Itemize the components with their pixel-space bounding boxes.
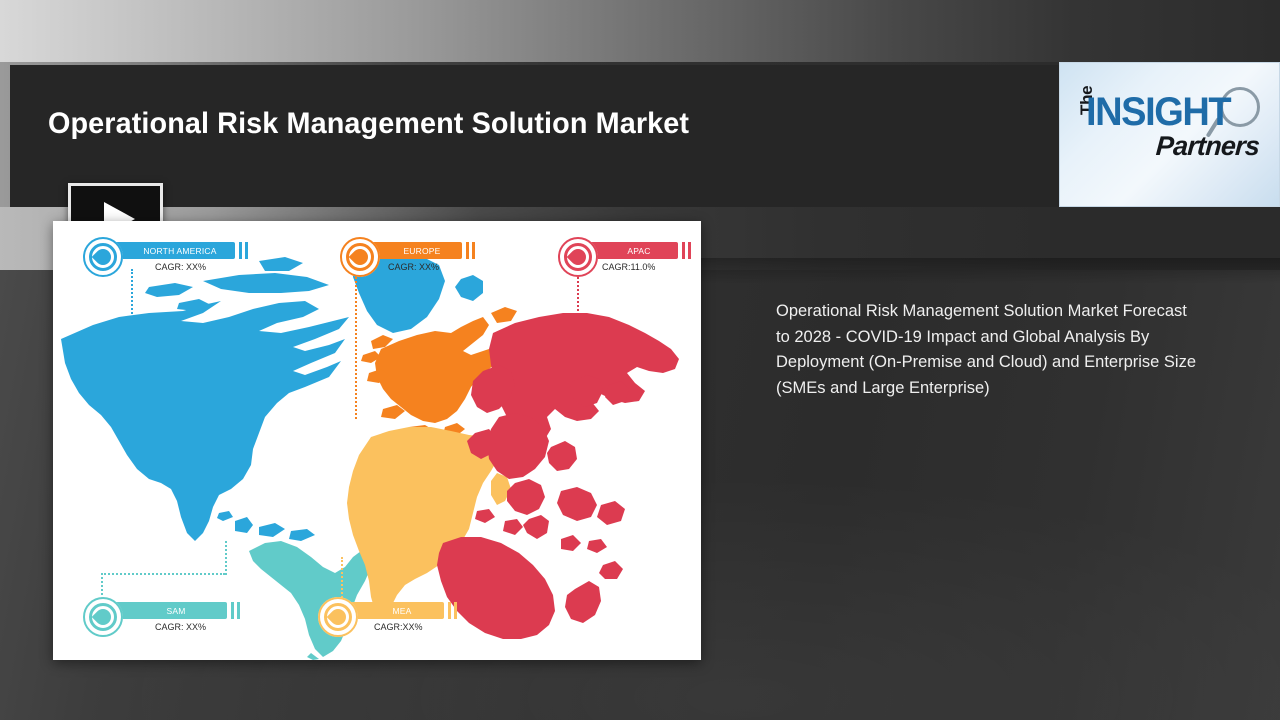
region-tick-north-america-2 xyxy=(245,242,248,259)
region-label-bar-north-america: NORTH AMERICA xyxy=(105,242,235,259)
region-tick-north-america-1 xyxy=(239,242,242,259)
connector-north-america xyxy=(131,269,133,421)
region-cagr-apac: CAGR:11.0% xyxy=(602,262,655,272)
connector-sam-drop xyxy=(225,541,227,575)
connector-apac xyxy=(577,269,579,327)
region-pin-icon-north-america xyxy=(83,237,123,277)
region-tick-sam-2 xyxy=(237,602,240,619)
region-pin-icon-sam xyxy=(83,597,123,637)
region-cagr-mea: CAGR:XX% xyxy=(374,622,423,632)
world-map-svg xyxy=(53,221,701,660)
map-region-south-america xyxy=(249,541,371,660)
background-top-gradient-strip xyxy=(0,0,1280,62)
region-pin-icon-europe xyxy=(340,237,380,277)
region-tick-europe-2 xyxy=(472,242,475,259)
region-cagr-europe: CAGR: XX% xyxy=(388,262,439,272)
region-tick-apac-2 xyxy=(688,242,691,259)
region-label-north-america: NORTH AMERICA xyxy=(123,246,216,256)
insight-partners-logo[interactable]: The INSIGHT Partners xyxy=(1059,62,1280,207)
logo-word-insight: INSIGHT xyxy=(1086,90,1230,135)
logo-artwork: The INSIGHT Partners xyxy=(1060,63,1280,207)
region-pin-icon-apac xyxy=(558,237,598,277)
logo-word-partners: Partners xyxy=(1155,131,1260,162)
region-label-apac: APAC xyxy=(607,246,650,256)
region-label-mea: MEA xyxy=(372,606,411,616)
background-drop-shadow xyxy=(700,258,1280,284)
region-cagr-north-america: CAGR: XX% xyxy=(155,262,206,272)
region-label-europe: EUROPE xyxy=(383,246,440,256)
region-tick-mea-1 xyxy=(448,602,451,619)
region-label-sam: SAM xyxy=(146,606,185,616)
region-label-bar-sam: SAM xyxy=(105,602,227,619)
connector-europe xyxy=(355,269,357,419)
region-tick-mea-2 xyxy=(454,602,457,619)
region-cagr-sam: CAGR: XX% xyxy=(155,622,206,632)
region-tick-apac-1 xyxy=(682,242,685,259)
region-tick-europe-1 xyxy=(466,242,469,259)
page-title: Operational Risk Management Solution Mar… xyxy=(48,107,689,141)
region-tick-sam-1 xyxy=(231,602,234,619)
report-description: Operational Risk Management Solution Mar… xyxy=(776,299,1201,401)
world-map-panel: NORTH AMERICA CAGR: XX% EUROPE CAGR: XX%… xyxy=(53,221,701,660)
region-pin-icon-mea xyxy=(318,597,358,637)
connector-sam-horizontal xyxy=(101,573,225,575)
